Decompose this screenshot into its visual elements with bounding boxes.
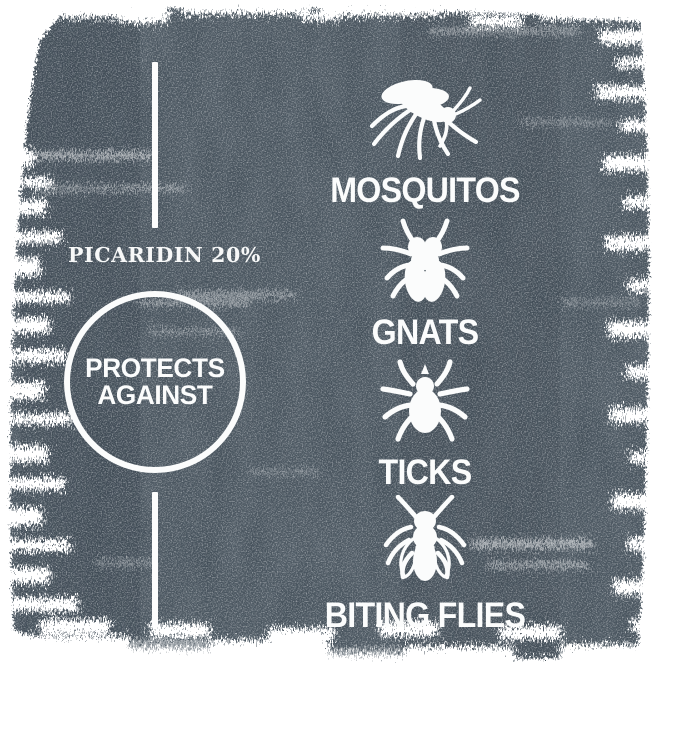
pest-label-ticks: TICKS (310, 455, 540, 490)
divider-rule-top (152, 62, 158, 228)
pest-item-ticks: TICKS (300, 358, 550, 490)
pest-item-gnats: GNATS (300, 218, 550, 350)
protects-against-badge: PROTECTS AGAINST (64, 291, 246, 473)
badge-line-1: PROTECTS (85, 355, 224, 382)
mosquito-icon (300, 70, 550, 167)
biting-fly-icon (300, 495, 550, 594)
pest-label-mosquitos: MOSQUITOS (310, 173, 540, 208)
divider-rule-bottom (152, 492, 158, 628)
gnat-icon (300, 218, 550, 311)
badge-line-2: AGAINST (85, 382, 224, 409)
tick-icon (300, 358, 550, 449)
infographic-content: PICARIDIN 20% PROTECTS AGAINST (0, 0, 679, 730)
pest-label-biting-flies: BITING FLIES (310, 598, 540, 633)
pest-item-mosquitos: MOSQUITOS (300, 70, 550, 208)
pest-item-biting-flies: BITING FLIES (300, 495, 550, 633)
badge-text: PROTECTS AGAINST (85, 355, 224, 408)
infographic-stage: PICARIDIN 20% PROTECTS AGAINST (0, 0, 679, 730)
pest-label-gnats: GNATS (310, 315, 540, 350)
active-ingredient-label: PICARIDIN 20% (68, 243, 268, 267)
